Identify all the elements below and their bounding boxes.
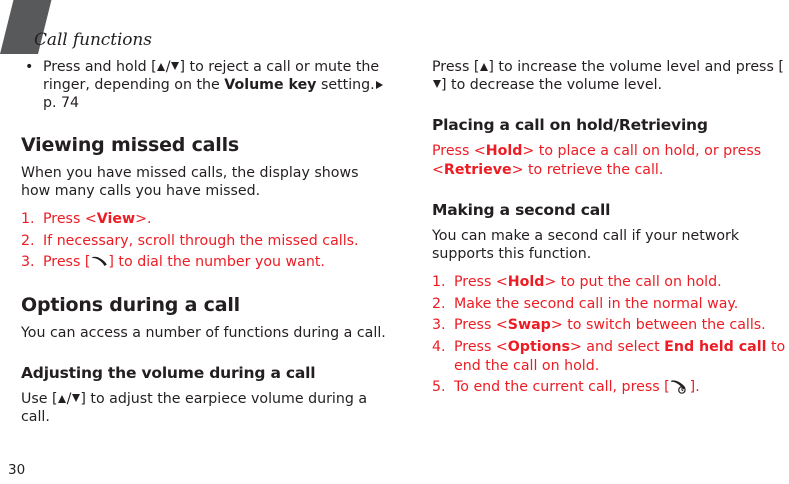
volume-down-triangle-icon xyxy=(72,394,80,402)
chapter-title: Call functions xyxy=(34,30,152,50)
right-column: Press [] to increase the volume level an… xyxy=(432,58,789,400)
step-text-part2: > to switch between the calls. xyxy=(551,317,766,333)
spacer xyxy=(432,219,789,227)
step-text-part1: To end the current call, press [ xyxy=(454,379,670,395)
list-item: 1.Press <View>. xyxy=(21,210,390,229)
spacer xyxy=(21,275,390,295)
volume-up-triangle-icon xyxy=(157,63,165,71)
step-number: 4. xyxy=(432,338,450,357)
step-text-part1: If necessary, scroll through the missed … xyxy=(43,233,359,249)
step-number: 1. xyxy=(21,210,39,229)
hold-text-part1: Press < xyxy=(432,143,486,159)
list-item: 3.Press <Swap> to switch between the cal… xyxy=(432,316,789,335)
spacer xyxy=(21,156,390,164)
step-text-part2: > to put the call on hold. xyxy=(544,274,721,290)
bold-term-retrieve: Retrieve xyxy=(444,162,512,178)
heading-adjusting-the-volume: Adjusting the volume during a call xyxy=(21,364,390,382)
list-item: 2.If necessary, scroll through the misse… xyxy=(21,232,390,251)
step-text-part1: Press < xyxy=(454,339,508,355)
hold-text-part3: > to retrieve the call. xyxy=(512,162,664,178)
list-item: 4.Press <Options> and select End held ca… xyxy=(432,338,789,375)
step-text-part1: Press [ xyxy=(43,254,90,270)
list-item: 1.Press <Hold> to put the call on hold. xyxy=(432,273,789,292)
step-number: 1. xyxy=(432,273,450,292)
step-text-part2: ] to dial the number you want. xyxy=(108,254,325,270)
step-text-part1: Press < xyxy=(454,317,508,333)
spacer xyxy=(21,316,390,324)
heading-viewing-missed-calls: Viewing missed calls xyxy=(21,135,390,156)
bullet-list: •Press and hold [/] to reject a call or … xyxy=(21,58,390,113)
bold-term-end-held-call: End held call xyxy=(664,339,766,355)
step-text-part2: ]. xyxy=(690,379,700,395)
step-number: 3. xyxy=(432,316,450,335)
volume-up-triangle-icon xyxy=(480,63,488,71)
spacer xyxy=(432,134,789,142)
paragraph-second-call-intro: You can make a second call if your netwo… xyxy=(432,227,789,263)
paragraph-missed-calls-intro: When you have missed calls, the display … xyxy=(21,164,390,200)
heading-making-a-second-call: Making a second call xyxy=(432,201,789,219)
paragraph-options-intro: You can access a number of functions dur… xyxy=(21,324,390,342)
heading-options-during-a-call: Options during a call xyxy=(21,295,390,316)
spacer xyxy=(432,263,789,273)
step-text-part1: Press < xyxy=(454,274,508,290)
bold-term-hold: Hold xyxy=(508,274,545,290)
step-number: 3. xyxy=(21,253,39,272)
step-number: 2. xyxy=(432,295,450,314)
list-item: 3.Press [] to dial the number you want. xyxy=(21,253,390,272)
volume-up-triangle-icon xyxy=(58,395,66,403)
paragraph-volume-continued: Press [] to increase the volume level an… xyxy=(432,58,789,94)
step-text-part2: > and select xyxy=(570,339,664,355)
paragraph-adjusting-volume: Use [/] to adjust the earpiece volume du… xyxy=(21,390,390,426)
list-item: •Press and hold [/] to reject a call or … xyxy=(21,58,390,113)
spacer xyxy=(21,200,390,210)
step-text-part1: Make the second call in the normal way. xyxy=(454,296,738,312)
bold-term-swap: Swap xyxy=(508,317,551,333)
volume-down-triangle-icon xyxy=(171,62,179,70)
step-text-part2: >. xyxy=(135,211,151,227)
steps-viewing-missed-calls: 1.Press <View>. 2.If necessary, scroll t… xyxy=(21,210,390,272)
dial-call-handset-icon xyxy=(91,255,108,269)
bold-term-options: Options xyxy=(508,339,570,355)
bullet-text-part3: setting. xyxy=(316,77,374,93)
spacer xyxy=(432,94,789,116)
step-number: 5. xyxy=(432,378,450,397)
cross-reference-page: p. 74 xyxy=(43,95,79,111)
steps-making-a-second-call: 1.Press <Hold> to put the call on hold. … xyxy=(432,273,789,397)
spacer xyxy=(432,179,789,201)
bullet-dot-icon: • xyxy=(25,58,33,76)
end-call-handset-icon xyxy=(670,379,689,394)
bold-term-hold: Hold xyxy=(486,143,523,159)
step-number: 2. xyxy=(21,232,39,251)
left-column: •Press and hold [/] to reject a call or … xyxy=(21,58,390,426)
spacer xyxy=(21,382,390,390)
bold-term-view: View xyxy=(97,211,135,227)
volume-cont-text-part1: Press [ xyxy=(432,59,479,75)
heading-placing-a-call-on-hold: Placing a call on hold/Retrieving xyxy=(432,116,789,134)
bullet-text-part1: Press and hold [ xyxy=(43,59,157,75)
list-item: 5.To end the current call, press []. xyxy=(432,378,789,397)
spacer xyxy=(21,342,390,364)
step-text-part1: Press < xyxy=(43,211,97,227)
paragraph-hold-retrieve: Press <Hold> to place a call on hold, or… xyxy=(432,142,789,178)
volume-cont-text-part2: ] to increase the volume level and press… xyxy=(488,59,784,75)
page-number: 30 xyxy=(8,462,25,478)
bold-term-volume-key: Volume key xyxy=(224,77,316,93)
cross-reference-arrow-icon xyxy=(376,81,383,89)
page-header: Call functions xyxy=(0,0,789,56)
key-separator: / xyxy=(67,391,72,407)
list-item: 2.Make the second call in the normal way… xyxy=(432,295,789,314)
key-separator: / xyxy=(166,59,171,75)
volume-down-triangle-icon xyxy=(433,80,441,88)
volume-cont-text-part3: ] to decrease the volume level. xyxy=(441,77,662,93)
volume-text-part1: Use [ xyxy=(21,391,58,407)
spacer xyxy=(21,113,390,135)
